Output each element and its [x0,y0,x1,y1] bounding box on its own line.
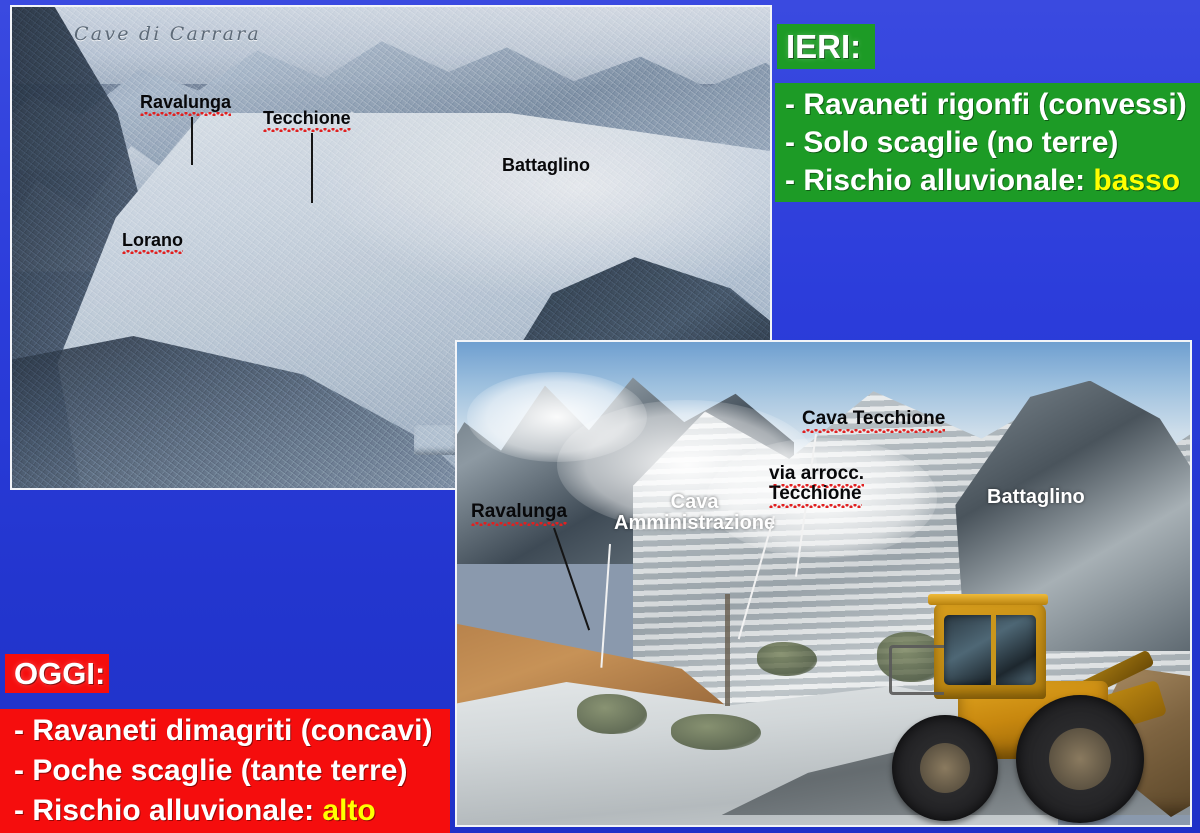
ieri-line-1: - Ravaneti rigonfi (convessi) [785,86,1200,124]
loader-rear-wheel [892,715,998,821]
ieri-tag: IERI: [777,24,875,69]
label-battaglino-historic: Battaglino [502,156,590,175]
leader-line-tecchione [311,133,313,203]
vegetation-patch [577,694,647,734]
vegetation-patch [671,714,761,750]
ieri-line-3: - Rischio alluvionale: basso [785,162,1200,200]
label-cava-tecchione-today: Cava Tecchione [802,409,945,429]
label-cava-amministrazione-today: Cava Amministrazione [614,492,775,534]
label-ravalunga-historic: Ravalunga [140,93,231,112]
loader-cab-window [944,615,1036,685]
slide-canvas: Cave di Carrara Ravalunga Tecchione Batt… [0,0,1200,833]
wheel-loader [866,569,1192,819]
cloud-plume [467,372,647,462]
label-battaglino-today: Battaglino [987,487,1085,508]
utility-pole [725,594,730,706]
photo-caption: Cave di Carrara [74,23,261,45]
ieri-risk-value: basso [1093,164,1180,197]
loader-roof [928,594,1048,605]
oggi-line-3: - Rischio alluvionale: alto [14,791,450,831]
oggi-panel: - Ravaneti dimagriti (concavi) - Poche s… [0,709,450,833]
label-tecchione-historic: Tecchione [263,109,351,128]
loader-front-wheel [1016,695,1144,823]
leader-line-ravalunga [191,117,193,165]
oggi-line-1: - Ravaneti dimagriti (concavi) [14,711,450,751]
label-via-arrocc-tecchione-today: via arrocc. Tecchione [769,464,864,504]
oggi-risk-value: alto [322,794,375,827]
vegetation-patch [757,642,817,676]
oggi-tag: OGGI: [5,654,109,693]
label-ravalunga-today: Ravalunga [471,502,567,522]
today-quarry-photo[interactable]: Ravalunga Cava Amministrazione Cava Tecc… [455,340,1192,827]
ieri-panel: - Ravaneti rigonfi (convessi) - Solo sca… [775,83,1200,202]
loader-handrail [889,645,944,695]
oggi-line-2: - Poche scaglie (tante terre) [14,751,450,791]
label-lorano-historic: Lorano [122,231,183,250]
loader-window-post [991,615,996,685]
ieri-line-2: - Solo scaglie (no terre) [785,124,1200,162]
